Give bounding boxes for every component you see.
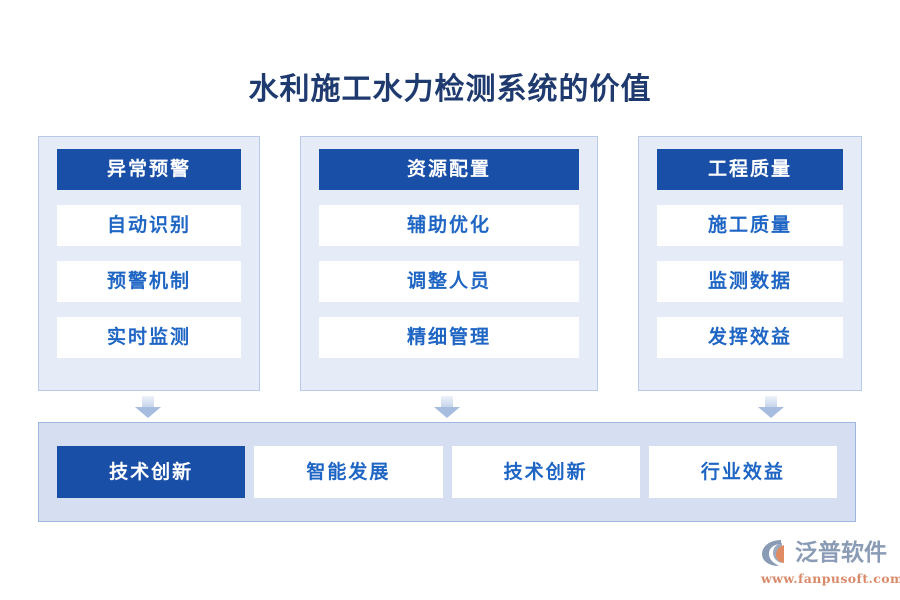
down-arrow-icon — [758, 396, 784, 418]
watermark-url-text: www.fanpusoft.com — [760, 571, 895, 586]
column-item[interactable]: 监测数据 — [657, 261, 843, 302]
column-item[interactable]: 预警机制 — [57, 261, 241, 302]
columns-group: 异常预警 自动识别 预警机制 实时监测 资源配置 辅助优化 调整人员 精细管理 … — [38, 136, 862, 391]
column-item[interactable]: 实时监测 — [57, 317, 241, 358]
bottom-item[interactable]: 智能发展 — [254, 446, 442, 498]
watermark-brand-text: 泛普软件 — [795, 538, 887, 568]
column-item[interactable]: 调整人员 — [319, 261, 579, 302]
fanpu-swoosh-logo-icon — [760, 538, 792, 568]
bottom-outcome-bar: 技术创新 智能发展 技术创新 行业效益 — [38, 422, 856, 522]
column-card-3: 工程质量 施工质量 监测数据 发挥效益 — [638, 136, 862, 391]
column-item[interactable]: 施工质量 — [657, 205, 843, 246]
column-item[interactable]: 发挥效益 — [657, 317, 843, 358]
down-arrow-icon — [434, 396, 460, 418]
page-title: 水利施工水力检测系统的价值 — [0, 64, 900, 108]
column-card-1: 异常预警 自动识别 预警机制 实时监测 — [38, 136, 260, 391]
column-header-3: 工程质量 — [657, 149, 843, 190]
column-item[interactable]: 辅助优化 — [319, 205, 579, 246]
arrow-head — [135, 407, 161, 418]
diagram-page: 水利施工水力检测系统的价值 异常预警 自动识别 预警机制 实时监测 资源配置 辅… — [0, 0, 900, 600]
bottom-item-highlighted[interactable]: 技术创新 — [57, 446, 245, 498]
arrow-head — [434, 407, 460, 418]
watermark-brand-row: 泛普软件 — [760, 536, 895, 570]
bottom-item[interactable]: 技术创新 — [452, 446, 640, 498]
column-card-2: 资源配置 辅助优化 调整人员 精细管理 — [300, 136, 598, 391]
column-header-1: 异常预警 — [57, 149, 241, 190]
down-arrow-icon — [135, 396, 161, 418]
column-item[interactable]: 自动识别 — [57, 205, 241, 246]
bottom-item[interactable]: 行业效益 — [649, 446, 837, 498]
watermark: 泛普软件 www.fanpusoft.com — [760, 536, 895, 592]
column-header-2: 资源配置 — [319, 149, 579, 190]
arrow-head — [758, 407, 784, 418]
column-item[interactable]: 精细管理 — [319, 317, 579, 358]
